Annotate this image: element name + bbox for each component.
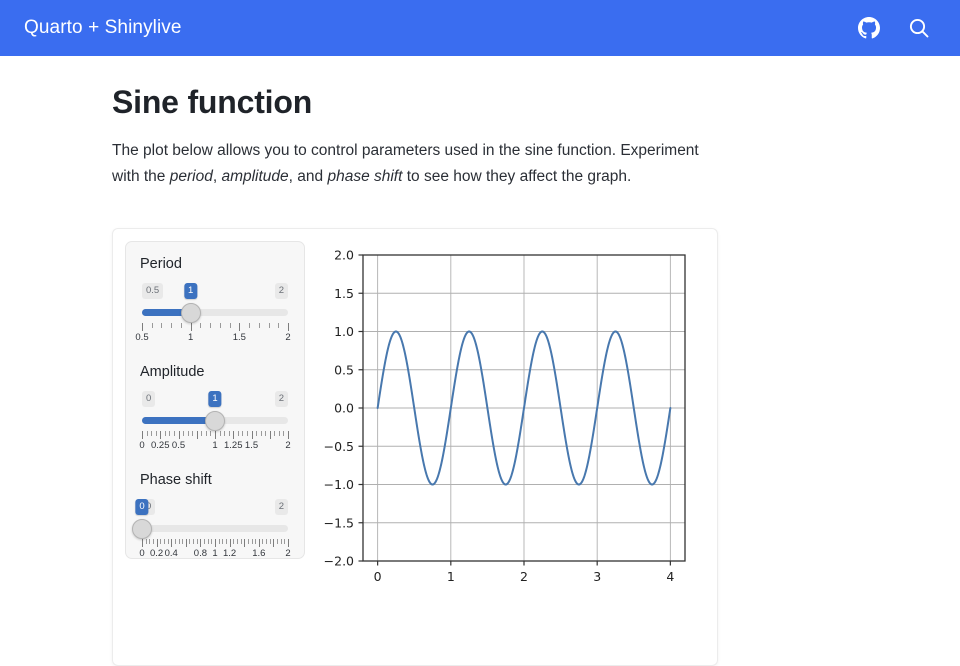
slider-tick — [252, 539, 253, 544]
slider-tick — [288, 323, 289, 331]
shinylive-app-card: Period0.5210.511.52Amplitude02100.250.51… — [112, 228, 718, 666]
slider-tick — [277, 539, 278, 544]
slider-track-bg-phase-shift[interactable] — [142, 525, 288, 532]
slider-tick — [183, 431, 184, 436]
slider-tick — [200, 539, 201, 547]
y-axis-tick-label: 1.0 — [334, 324, 354, 339]
slider-tick-label: 1.6 — [252, 548, 265, 559]
slider-tick — [193, 539, 194, 544]
slider-tick — [229, 431, 230, 436]
slider-tick — [211, 539, 212, 544]
sidebar-panel: Period0.5210.511.52Amplitude02100.250.51… — [125, 241, 305, 559]
slider-tick-label: 0 — [139, 440, 144, 451]
slider-tick — [278, 323, 279, 328]
slider-tick — [252, 431, 253, 439]
x-axis-tick-label: 0 — [374, 569, 382, 584]
slider-label-amplitude: Amplitude — [140, 364, 290, 380]
slider-tick — [210, 431, 211, 436]
slider-tick — [210, 323, 211, 328]
slider-value-bubble-phase-shift: 0 — [135, 499, 148, 515]
slider-tick — [288, 431, 289, 439]
slider-tick-label: 1.25 — [224, 440, 243, 451]
slider-track-period[interactable] — [142, 303, 288, 323]
x-axis-tick-label: 4 — [666, 569, 674, 584]
slider-tick — [179, 431, 180, 439]
description-line-2-post: to see how they affect the graph. — [402, 168, 631, 185]
description-emphasis-period: period — [170, 168, 213, 185]
slider-group-phase-shift: Phase shift02000.20.40.811.21.62 — [140, 472, 290, 562]
slider-tick — [168, 539, 169, 544]
slider-handle-amplitude[interactable] — [205, 411, 225, 431]
slider-value-bubble-amplitude: 1 — [208, 391, 221, 407]
slider-tick — [255, 539, 256, 544]
slider-tick — [273, 539, 274, 547]
description-emphasis-amplitude: amplitude — [221, 168, 288, 185]
navbar-brand[interactable]: Quarto + Shinylive — [24, 17, 182, 39]
description-sep-2: , and — [289, 168, 328, 185]
slider-tick — [208, 539, 209, 544]
y-axis-tick-label: −1.5 — [324, 515, 354, 530]
slider-tick — [241, 539, 242, 544]
slider-tick-labels-amplitude: 00.250.511.251.52 — [142, 440, 288, 454]
slider-tick-label: 0.25 — [151, 440, 170, 451]
navbar: Quarto + Shinylive — [0, 0, 960, 56]
page-title: Sine function — [112, 84, 312, 121]
slider-tick-label: 2 — [285, 332, 290, 343]
github-icon[interactable] — [852, 11, 886, 45]
slider-tick-label: 0.5 — [135, 332, 148, 343]
slider-tick-label: 0.2 — [150, 548, 163, 559]
x-axis-tick-label: 2 — [520, 569, 528, 584]
slider-tick — [160, 431, 161, 439]
slider-tick — [215, 431, 216, 439]
slider-tick — [181, 323, 182, 328]
slider-tick — [169, 431, 170, 436]
slider-group-amplitude: Amplitude02100.250.511.251.52 — [140, 364, 290, 454]
slider-tick — [222, 539, 223, 544]
page-description: The plot below allows you to control par… — [112, 138, 704, 190]
slider-tick — [197, 539, 198, 544]
slider-tick — [171, 323, 172, 328]
slider-max-label-phase-shift: 2 — [275, 499, 288, 515]
slider-tick — [238, 431, 239, 436]
slider-tick — [237, 539, 238, 544]
slider-tick-labels-period: 0.511.52 — [142, 332, 288, 346]
slider-tick — [142, 539, 143, 547]
slider-tick — [149, 539, 150, 544]
slider-tick — [151, 431, 152, 436]
slider-tick — [248, 539, 249, 544]
slider-tick — [147, 431, 148, 436]
slider-tick — [204, 539, 205, 544]
slider-tick-label: 1.5 — [233, 332, 246, 343]
y-axis-tick-label: −1.0 — [324, 477, 354, 492]
slider-tick — [259, 323, 260, 328]
slider-tick-label: 1.2 — [223, 548, 236, 559]
slider-tick — [233, 431, 234, 439]
slider-tick — [182, 539, 183, 544]
y-axis-tick-label: 2.0 — [334, 248, 354, 263]
slider-tick — [230, 323, 231, 328]
slider-tick — [239, 323, 240, 331]
slider-value-bubble-period: 1 — [184, 283, 197, 299]
slider-tick — [270, 539, 271, 544]
slider-tick — [206, 431, 207, 436]
slider-tick — [259, 539, 260, 547]
slider-tick — [171, 539, 172, 547]
y-axis-tick-label: −0.5 — [324, 439, 354, 454]
sine-plot-svg: −2.0−1.5−1.0−0.50.00.51.01.52.001234 — [317, 241, 707, 655]
description-line-1: The plot below allows you to control par… — [112, 142, 616, 159]
slider-tick — [160, 539, 161, 544]
slider-tick — [188, 431, 189, 436]
slider-tick — [220, 431, 221, 436]
x-axis-tick-label: 1 — [447, 569, 455, 584]
slider-tick — [179, 539, 180, 544]
slider-tick — [200, 323, 201, 328]
x-axis-tick-label: 3 — [593, 569, 601, 584]
slider-tick — [288, 539, 289, 547]
description-emphasis-phase-shift: phase shift — [327, 168, 402, 185]
slider-ticks-period — [142, 323, 288, 331]
slider-min-label-amplitude: 0 — [142, 391, 155, 407]
slider-track-phase-shift[interactable] — [142, 519, 288, 539]
slider-tick-label: 0.8 — [194, 548, 207, 559]
slider-tick — [191, 323, 192, 331]
slider-min-label-period: 0.5 — [142, 283, 163, 299]
slider-tick-label: 1 — [212, 440, 217, 451]
slider-tick — [142, 323, 143, 331]
slider-track-amplitude[interactable] — [142, 411, 288, 431]
slider-max-label-amplitude: 2 — [275, 391, 288, 407]
slider-group-period: Period0.5210.511.52 — [140, 256, 290, 346]
slider-tick — [165, 431, 166, 436]
y-axis-tick-label: 1.5 — [334, 286, 354, 301]
slider-tick-label: 2 — [285, 548, 290, 559]
y-axis-tick-label: −2.0 — [324, 554, 354, 569]
slider-tick — [161, 323, 162, 328]
slider-tick-label: 1.5 — [245, 440, 258, 451]
sine-plot: −2.0−1.5−1.0−0.50.00.51.01.52.001234 — [317, 241, 707, 655]
slider-tick-label: 2 — [285, 440, 290, 451]
slider-tick — [244, 539, 245, 547]
slider-tick — [220, 323, 221, 328]
slider-tick — [186, 539, 187, 547]
slider-tick — [164, 539, 165, 544]
slider-tick — [247, 431, 248, 436]
slider-tick-label: 0.5 — [172, 440, 185, 451]
slider-bubbles-phase-shift: 020 — [142, 499, 288, 516]
slider-tick-label: 0 — [139, 548, 144, 559]
slider-tick — [153, 539, 154, 544]
slider-max-label-period: 2 — [275, 283, 288, 299]
slider-tick — [192, 431, 193, 436]
slider-ticks-amplitude — [142, 431, 288, 439]
search-icon[interactable] — [902, 11, 936, 45]
slider-tick — [226, 539, 227, 544]
slider-tick — [262, 539, 263, 544]
slider-tick — [142, 431, 143, 439]
slider-tick — [219, 539, 220, 544]
slider-tick — [233, 539, 234, 544]
slider-handle-period[interactable] — [181, 303, 201, 323]
slider-ticks-phase-shift — [142, 539, 288, 547]
slider-tick — [281, 539, 282, 544]
slider-tick — [201, 431, 202, 436]
slider-label-period: Period — [140, 256, 290, 272]
slider-tick — [175, 539, 176, 544]
slider-tick — [230, 539, 231, 547]
slider-tick — [157, 539, 158, 547]
slider-tick — [156, 431, 157, 436]
slider-tick — [215, 539, 216, 547]
slider-tick — [265, 431, 266, 436]
slider-tick — [279, 431, 280, 436]
slider-tick — [152, 323, 153, 328]
slider-tick — [256, 431, 257, 436]
slider-tick-label: 1 — [212, 548, 217, 559]
slider-tick — [146, 539, 147, 544]
slider-tick — [284, 539, 285, 544]
slider-handle-phase-shift[interactable] — [132, 519, 152, 539]
slider-tick-labels-phase-shift: 00.20.40.811.21.62 — [142, 548, 288, 562]
slider-tick — [283, 431, 284, 436]
slider-tick — [189, 539, 190, 544]
y-axis-tick-label: 0.0 — [334, 401, 354, 416]
slider-tick — [266, 539, 267, 544]
slider-bubbles-period: 0.521 — [142, 283, 288, 300]
slider-tick — [224, 431, 225, 436]
slider-label-phase-shift: Phase shift — [140, 472, 290, 488]
y-axis-tick-label: 0.5 — [334, 362, 354, 377]
slider-tick — [249, 323, 250, 328]
slider-tick — [269, 323, 270, 328]
slider-bubbles-amplitude: 021 — [142, 391, 288, 408]
slider-tick — [270, 431, 271, 439]
slider-tick — [274, 431, 275, 436]
slider-tick-label: 0.4 — [165, 548, 178, 559]
slider-tick — [242, 431, 243, 436]
slider-tick — [174, 431, 175, 436]
slider-tick — [261, 431, 262, 436]
slider-tick — [197, 431, 198, 439]
slider-tick-label: 1 — [188, 332, 193, 343]
